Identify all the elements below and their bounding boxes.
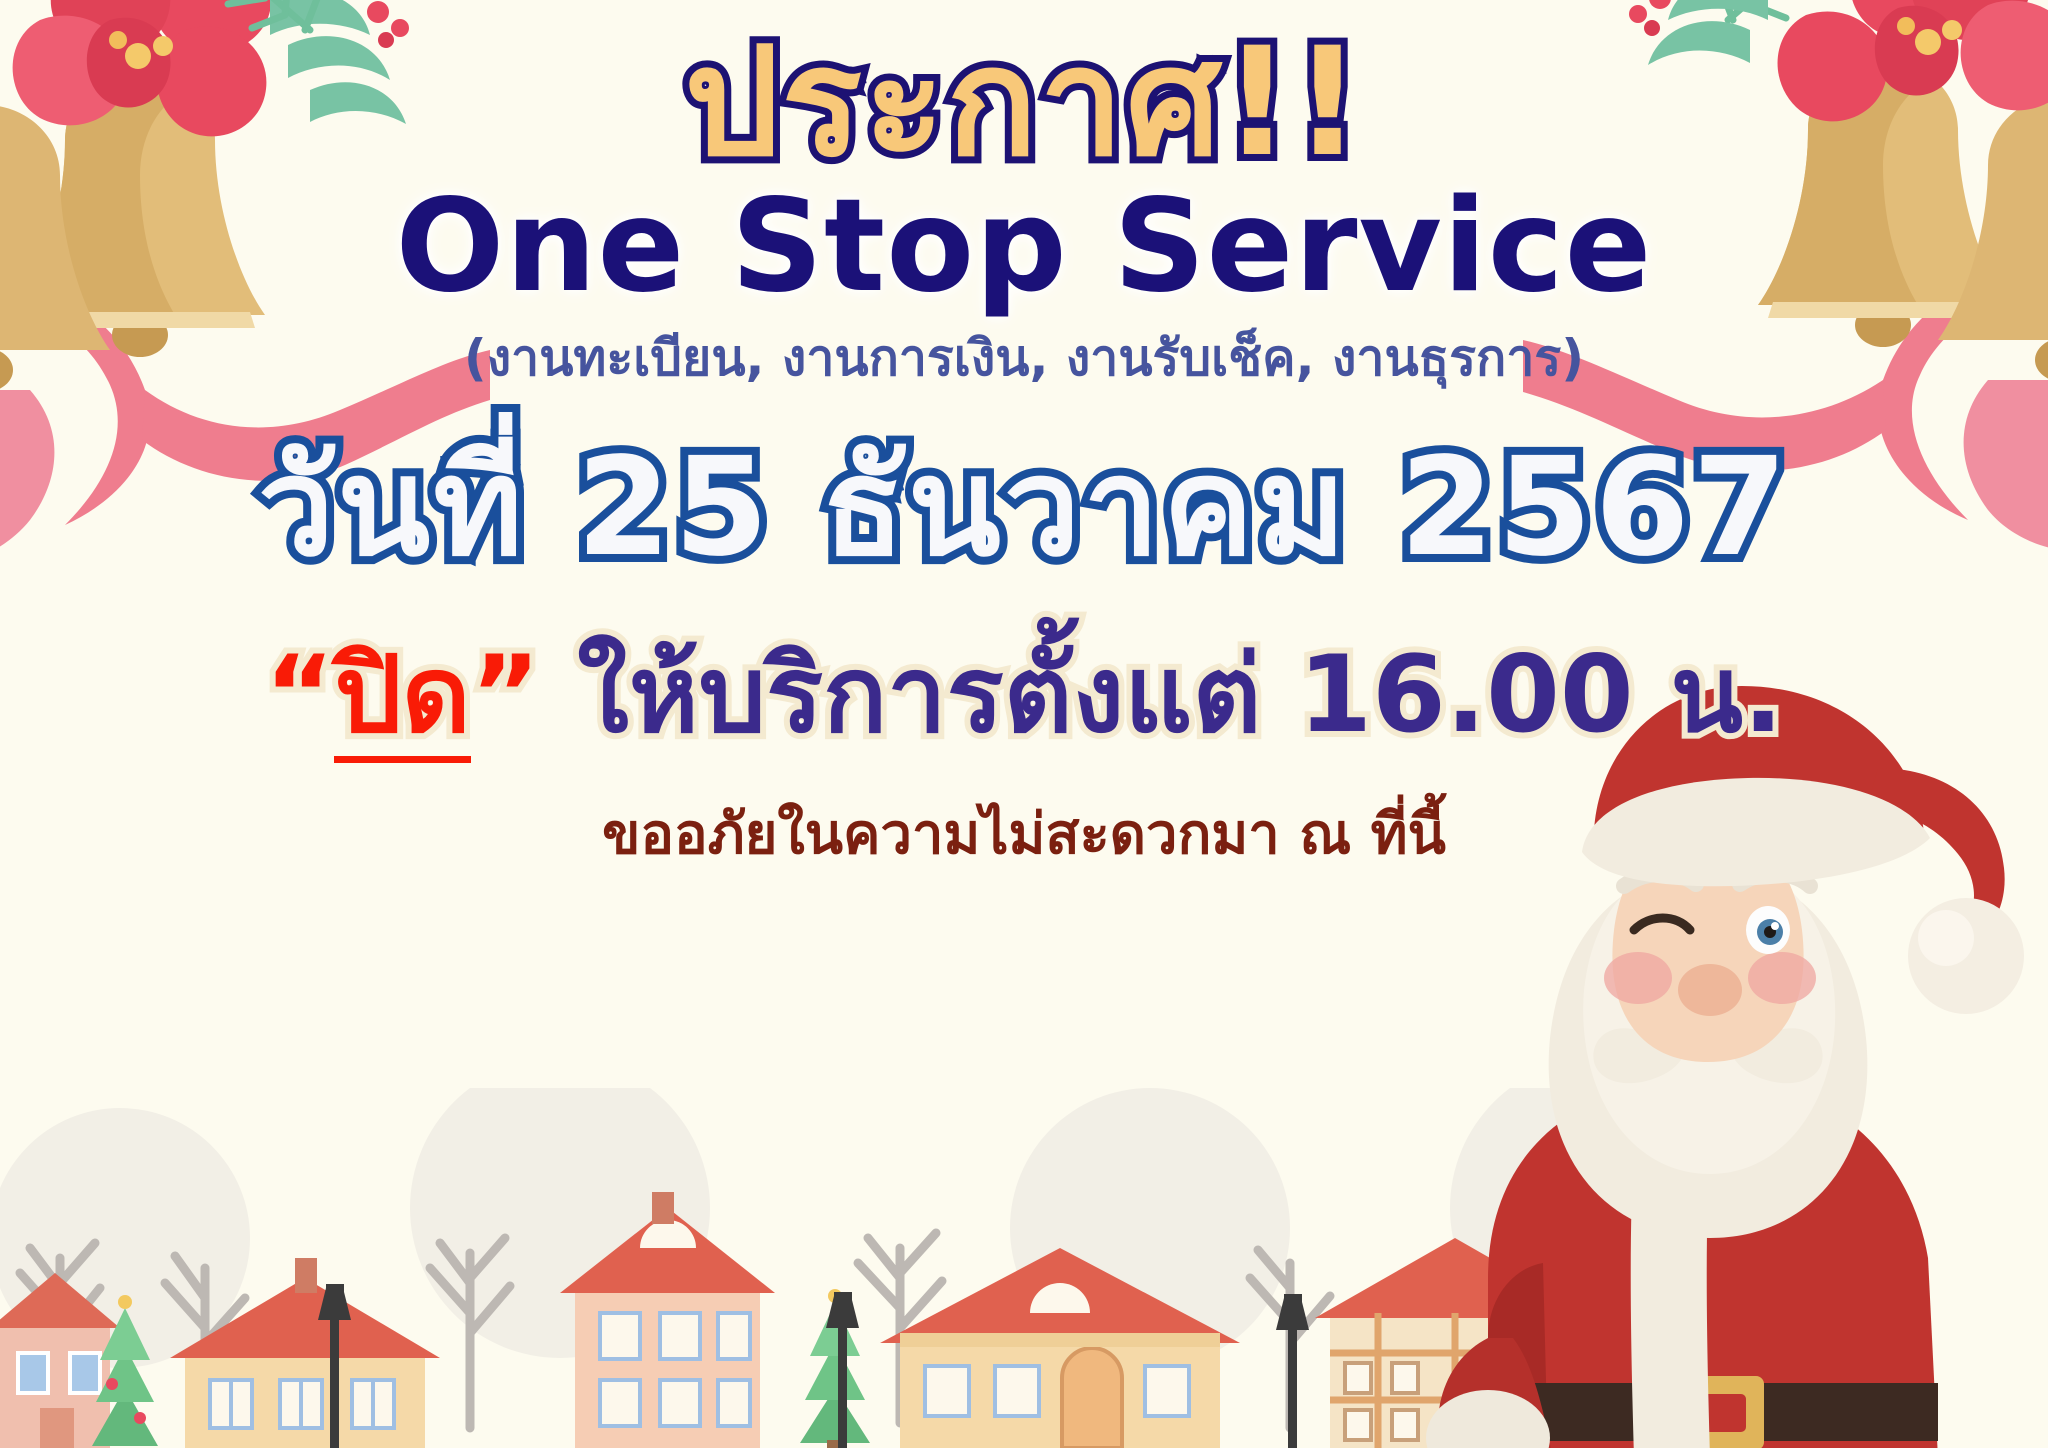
announce-heading: ประกาศ!!	[684, 22, 1363, 184]
service-subtitle: (งานทะเบียน, งานการเงิน, งานรับเช็ค, งาน…	[464, 328, 1584, 388]
quote-close: ”	[471, 633, 541, 756]
quote-open: “	[265, 633, 335, 756]
closing-rest: ให้บริการตั้งแต่ 16.00 น.	[540, 633, 1783, 756]
closing-notice: “ปิด” ให้บริการตั้งแต่ 16.00 น.	[265, 636, 1783, 755]
closed-word: ปิด	[334, 633, 470, 763]
event-date: วันที่ 25 ธันวาคม 2567	[258, 434, 1790, 584]
apology-note: ขออภัยในความไม่สะดวกมา ณ ที่นี้	[602, 801, 1446, 868]
service-title: One Stop Service	[396, 180, 1653, 314]
announcement-poster: ประกาศ!! One Stop Service (งานทะเบียน, ง…	[0, 0, 2048, 1448]
